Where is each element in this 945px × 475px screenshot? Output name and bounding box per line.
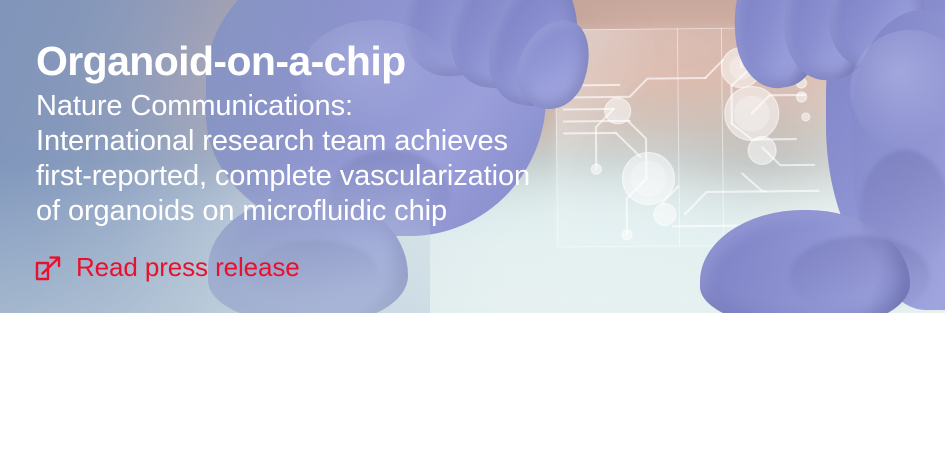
external-link-icon (34, 254, 62, 282)
read-press-release-label: Read press release (76, 252, 300, 283)
hero-subtitle-line: Nature Communications: (36, 89, 696, 124)
hero-text-block: Organoid-on-a-chip Nature Communications… (36, 36, 696, 229)
page-body-area (0, 313, 945, 475)
read-press-release-link[interactable]: Read press release (34, 252, 300, 283)
hero-subtitle-line: first-reported, complete vascularization (36, 159, 696, 194)
hero-subtitle-line: of organoids on microfluidic chip (36, 194, 696, 229)
hero-subtitle: Nature Communications: International res… (36, 89, 696, 229)
press-release-banner-page: Organoid-on-a-chip Nature Communications… (0, 0, 945, 475)
hero-banner: Organoid-on-a-chip Nature Communications… (0, 0, 945, 313)
page-title: Organoid-on-a-chip (36, 36, 696, 86)
hero-subtitle-line: International research team achieves (36, 124, 696, 159)
